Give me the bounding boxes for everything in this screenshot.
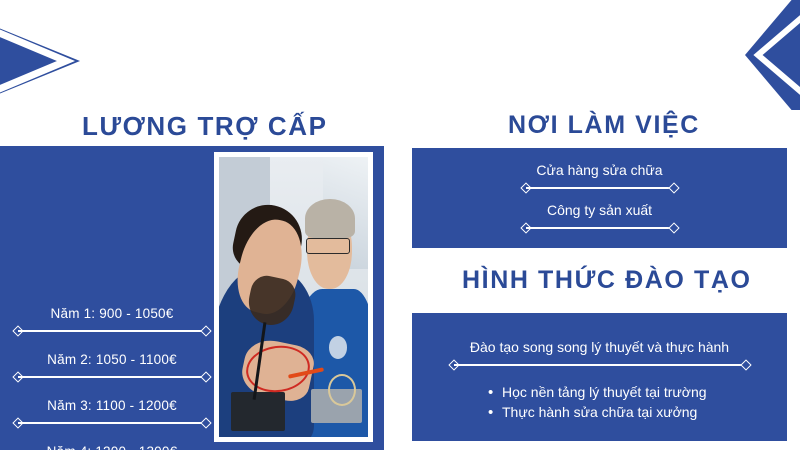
list-item: Thực hành sửa chữa tại xưởng (488, 403, 787, 423)
workplace-list: Cửa hàng sửa chữa Công ty sản xuất (412, 148, 787, 232)
diamond-icon (668, 222, 679, 233)
workplace-panel: Cửa hàng sửa chữa Công ty sản xuất (412, 148, 787, 248)
divider-line (454, 364, 746, 366)
divider (522, 223, 678, 232)
glasses-icon (306, 238, 350, 254)
technicians-photo-frame (214, 152, 373, 442)
workplace-section-title: NƠI LÀM VIỆC (508, 113, 700, 138)
photo-equipment (231, 392, 285, 431)
training-headline: Đào tạo song song lý thuyết và thực hành (412, 339, 787, 360)
salary-item-label: Năm 2: 1050 - 1100€ (14, 352, 210, 372)
divider-line (18, 422, 206, 424)
infographic-slide: LƯƠNG TRỢ CẤP NƠI LÀM VIỆC HÌNH THỨC ĐÀO… (0, 0, 800, 450)
photo-logo (329, 336, 347, 358)
salary-item-label: Năm 1: 900 - 1050€ (14, 306, 210, 326)
diamond-icon (200, 371, 211, 382)
chevron-right-icon (0, 0, 80, 122)
training-headline-block: Đào tạo song song lý thuyết và thực hành (412, 313, 787, 369)
divider (14, 418, 210, 427)
diamond-icon (200, 325, 211, 336)
list-item: Năm 2: 1050 - 1100€ (14, 352, 210, 381)
chevron-left-icon (700, 0, 800, 110)
photo-person-background (305, 199, 354, 238)
list-item: Học nền tảng lý thuyết tại trường (488, 383, 787, 403)
divider-line (526, 227, 674, 229)
training-bullet-list: Học nền tảng lý thuyết tại trường Thực h… (412, 383, 787, 423)
divider-line (526, 187, 674, 189)
divider (522, 183, 678, 192)
salary-item-label: Năm 3: 1100 - 1200€ (14, 398, 210, 418)
workplace-item-label: Công ty sản xuất (412, 202, 787, 223)
training-section-title: HÌNH THỨC ĐÀO TẠO (462, 268, 752, 293)
divider (14, 372, 210, 381)
list-item: Năm 4: 1200 - 1300€ (14, 444, 210, 450)
list-item: Năm 3: 1100 - 1200€ (14, 398, 210, 427)
divider-line (18, 330, 206, 332)
training-panel: Đào tạo song song lý thuyết và thực hành… (412, 313, 787, 441)
divider (14, 326, 210, 335)
list-item: Cửa hàng sửa chữa (412, 162, 787, 192)
salary-section-title: LƯƠNG TRỢ CẤP (82, 113, 328, 139)
diamond-icon (200, 417, 211, 428)
diamond-icon (668, 182, 679, 193)
diamond-icon (740, 359, 751, 370)
workplace-item-label: Cửa hàng sửa chữa (412, 162, 787, 183)
list-item: Năm 1: 900 - 1050€ (14, 306, 210, 335)
salary-list: Năm 1: 900 - 1050€ Năm 2: 1050 - 1100€ N… (14, 306, 210, 450)
divider-line (18, 376, 206, 378)
salary-item-label: Năm 4: 1200 - 1300€ (14, 444, 210, 450)
technicians-photo (219, 157, 368, 437)
divider (450, 360, 750, 369)
list-item: Công ty sản xuất (412, 202, 787, 232)
